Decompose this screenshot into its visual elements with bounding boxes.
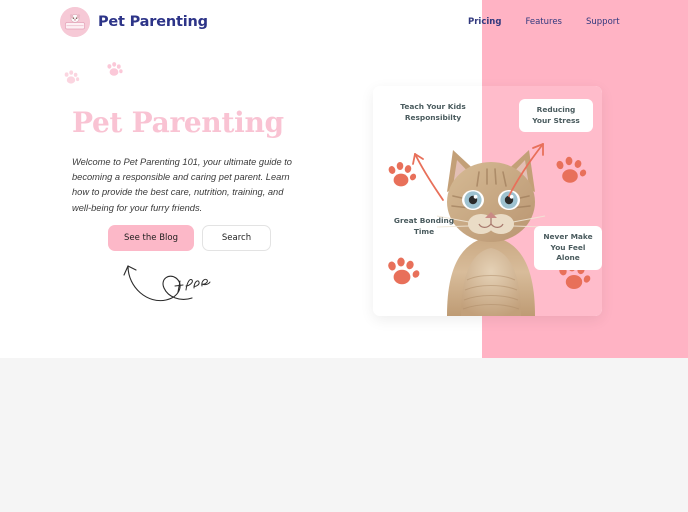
brand[interactable]: Pet Parenting — [60, 7, 208, 37]
nav-links: Pricing Features Support — [468, 0, 620, 44]
see-the-blog-button[interactable]: See the Blog — [108, 225, 194, 251]
hero-copy: Pet Parenting Welcome to Pet Parenting 1… — [72, 108, 297, 216]
paw-print-icon — [382, 251, 422, 291]
hero-subtitle: Welcome to Pet Parenting 101, your ultim… — [72, 155, 297, 215]
paw-print-icon — [62, 58, 132, 94]
below-fold-area — [0, 358, 688, 512]
card-label-kids: Teach Your Kids Responsibilty — [387, 102, 479, 123]
brand-name: Pet Parenting — [98, 14, 208, 30]
paw-print-icon — [551, 148, 589, 190]
nav-link-pricing[interactable]: Pricing — [468, 17, 501, 27]
search-button[interactable]: Search — [202, 225, 271, 251]
top-navigation: Pet Parenting Pricing Features Support — [0, 0, 688, 44]
card-label-stress: Reducing Your Stress — [519, 99, 593, 132]
hero-section: Pet Parenting Pricing Features Support — [0, 0, 688, 358]
nav-link-support[interactable]: Support — [586, 17, 620, 27]
handwritten-arrow-note — [118, 258, 214, 310]
card-label-bonding: Great Bonding Time — [383, 216, 465, 237]
promo-card[interactable]: Teach Your Kids Responsibilty Great Bond… — [373, 86, 602, 316]
curved-arrow-icon — [503, 138, 553, 200]
page-title: Pet Parenting — [72, 108, 297, 137]
pet-badge-icon — [60, 7, 90, 37]
nav-link-features[interactable]: Features — [525, 17, 562, 27]
cta-row: See the Blog Search — [108, 225, 271, 251]
curved-arrow-icon — [405, 146, 449, 204]
card-label-alone: Never Make You Feel Alone — [534, 226, 602, 270]
page-root: Pet Parenting Pricing Features Support — [0, 0, 688, 512]
